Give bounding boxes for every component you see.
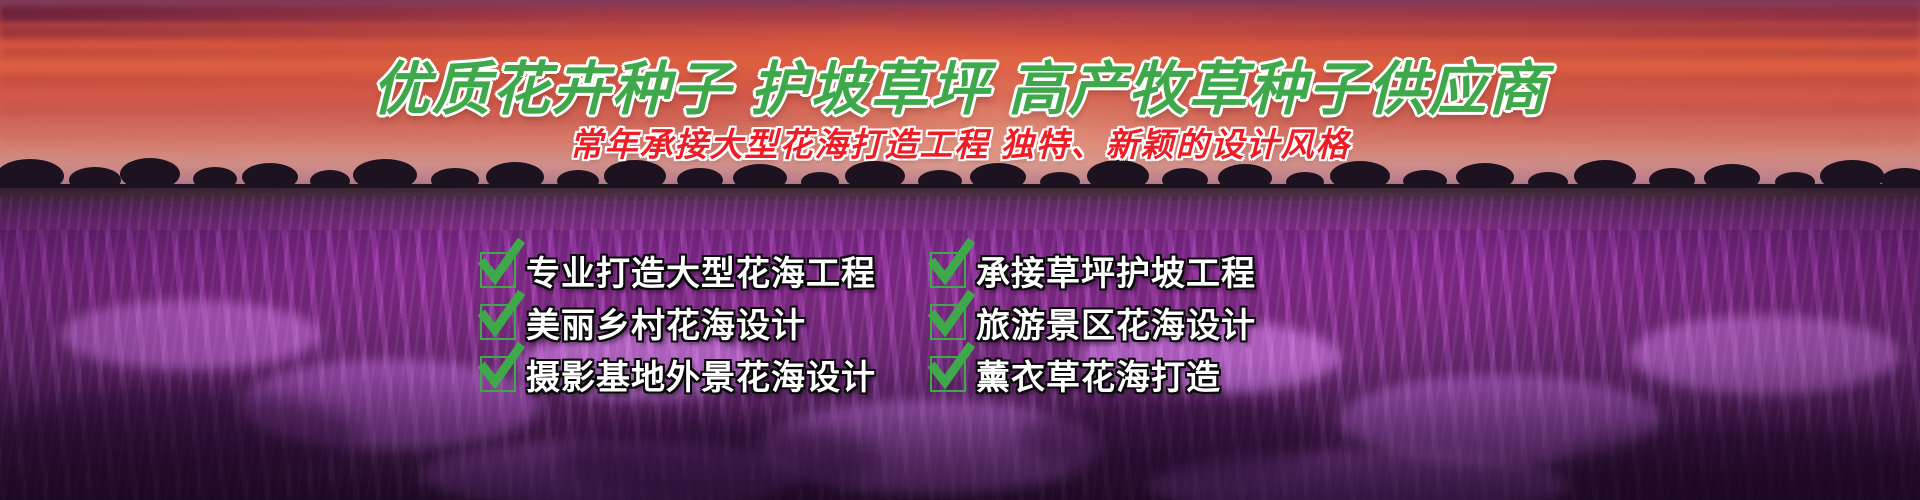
feature-label: 专业打造大型花海工程	[526, 246, 876, 295]
promo-banner: 优质花卉种子 护坡草坪 高产牧草种子供应商 常年承接大型花海打造工程 独特、新颖…	[0, 0, 1920, 500]
feature-item: 承接草坪护坡工程	[930, 245, 1320, 295]
banner-content: 优质花卉种子 护坡草坪 高产牧草种子供应商 常年承接大型花海打造工程 独特、新颖…	[0, 0, 1920, 500]
feature-list: 专业打造大型花海工程 承接草坪护坡工程 美丽乡村花海设计 旅游景区花海设计	[480, 245, 1440, 399]
feature-item: 薰衣草花海打造	[930, 349, 1320, 399]
feature-item: 美丽乡村花海设计	[480, 297, 910, 347]
feature-label: 薰衣草花海打造	[976, 350, 1221, 399]
check-icon	[930, 356, 966, 392]
check-icon	[480, 356, 516, 392]
banner-headline: 优质花卉种子 护坡草坪 高产牧草种子供应商	[0, 42, 1920, 126]
feature-label: 旅游景区花海设计	[976, 298, 1256, 347]
feature-item: 旅游景区花海设计	[930, 297, 1320, 347]
check-icon	[480, 304, 516, 340]
feature-label: 美丽乡村花海设计	[526, 298, 806, 347]
feature-item: 摄影基地外景花海设计	[480, 349, 910, 399]
feature-item: 专业打造大型花海工程	[480, 245, 910, 295]
banner-subheadline: 常年承接大型花海打造工程 独特、新颖的设计风格	[0, 118, 1920, 166]
check-icon	[930, 304, 966, 340]
feature-label: 承接草坪护坡工程	[976, 246, 1256, 295]
feature-label: 摄影基地外景花海设计	[526, 350, 876, 399]
check-icon	[480, 252, 516, 288]
check-icon	[930, 252, 966, 288]
